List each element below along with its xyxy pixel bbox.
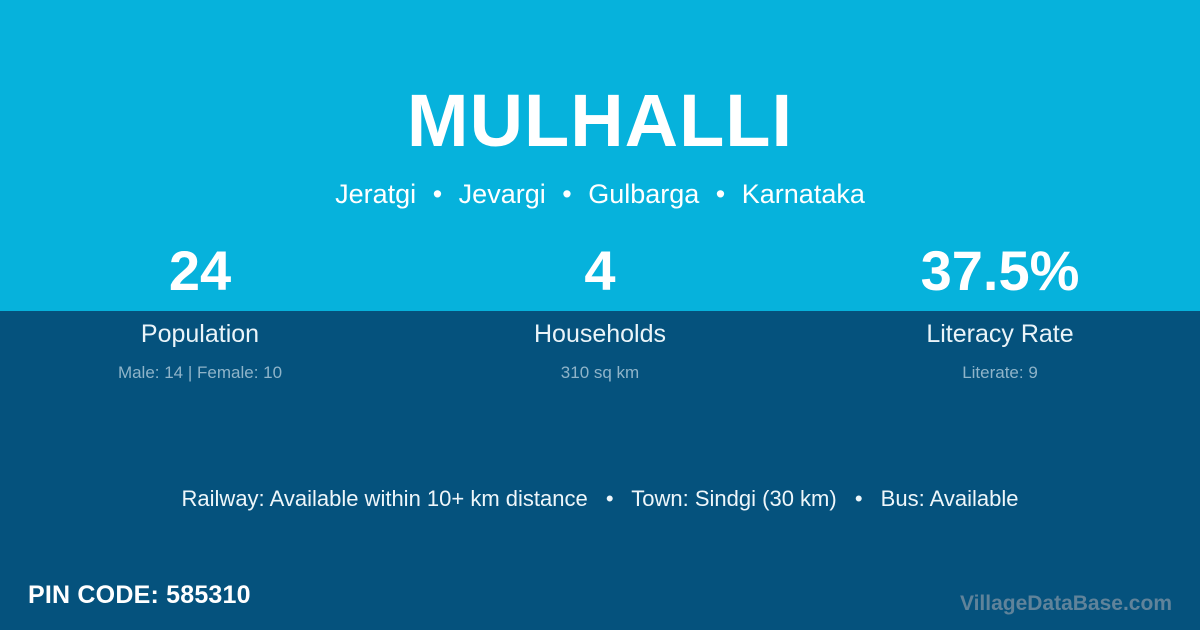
stat-value: 24 bbox=[0, 243, 400, 311]
amenity-railway: Railway: Available within 10+ km distanc… bbox=[182, 486, 588, 511]
card-header: MULHALLI Jeratgi • Jevargi • Gulbarga • … bbox=[0, 0, 1200, 210]
stat-subtext: 310 sq km bbox=[400, 347, 800, 381]
breadcrumb-separator: • bbox=[424, 180, 451, 210]
breadcrumb-item-village: Jeratgi bbox=[335, 179, 416, 209]
site-watermark: VillageDataBase.com bbox=[960, 593, 1172, 614]
amenity-separator: • bbox=[843, 486, 875, 512]
pin-code: PIN CODE: 585310 bbox=[28, 583, 251, 608]
breadcrumb-item-state: Karnataka bbox=[742, 179, 865, 209]
stat-value: 4 bbox=[400, 243, 800, 311]
stat-subtext: Literate: 9 bbox=[800, 347, 1200, 381]
stat-households: 4 Households 310 sq km bbox=[400, 243, 800, 381]
page-title: MULHALLI bbox=[0, 0, 1200, 158]
amenities-line: Railway: Available within 10+ km distanc… bbox=[0, 486, 1200, 512]
amenity-bus: Bus: Available bbox=[881, 486, 1019, 511]
stat-label: Population bbox=[0, 311, 400, 347]
village-info-card: MULHALLI Jeratgi • Jevargi • Gulbarga • … bbox=[0, 0, 1200, 630]
breadcrumb-item-district: Gulbarga bbox=[588, 179, 699, 209]
stat-label: Households bbox=[400, 311, 800, 347]
breadcrumb-separator: • bbox=[707, 180, 734, 210]
amenity-separator: • bbox=[594, 486, 626, 512]
stat-literacy-rate: 37.5% Literacy Rate Literate: 9 bbox=[800, 243, 1200, 381]
amenity-town: Town: Sindgi (30 km) bbox=[631, 486, 836, 511]
breadcrumb-item-taluk: Jevargi bbox=[459, 179, 546, 209]
breadcrumb-separator: • bbox=[553, 180, 580, 210]
breadcrumb: Jeratgi • Jevargi • Gulbarga • Karnataka bbox=[0, 158, 1200, 210]
stat-population: 24 Population Male: 14 | Female: 10 bbox=[0, 243, 400, 381]
stat-label: Literacy Rate bbox=[800, 311, 1200, 347]
stats-row: 24 Population Male: 14 | Female: 10 4 Ho… bbox=[0, 243, 1200, 381]
stat-value: 37.5% bbox=[800, 243, 1200, 311]
stat-subtext: Male: 14 | Female: 10 bbox=[0, 347, 400, 381]
card-footer: PIN CODE: 585310 VillageDataBase.com bbox=[0, 546, 1200, 630]
